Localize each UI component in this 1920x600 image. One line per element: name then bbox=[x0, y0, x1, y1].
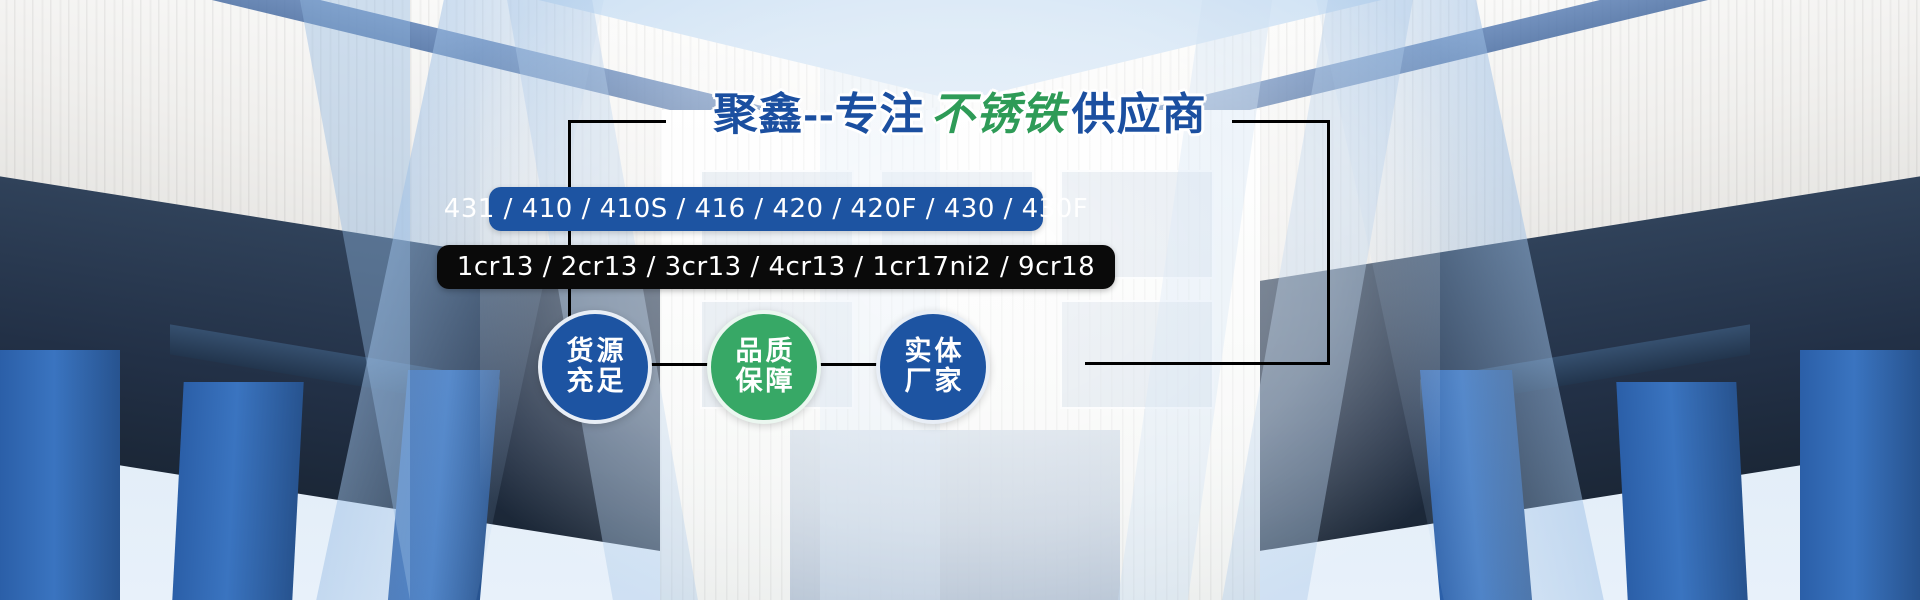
steel-grades-blue-pill: 431 / 410 / 410S / 416 / 420 / 420F / 43… bbox=[489, 187, 1043, 231]
feature-circle-ample-supply: 货源 充足 bbox=[538, 310, 652, 424]
title-focus: 专注 bbox=[835, 89, 925, 140]
building-pillar bbox=[1616, 382, 1747, 600]
building-pillar bbox=[0, 350, 120, 600]
feature-line-2: 厂家 bbox=[902, 367, 965, 397]
building-pillar bbox=[1800, 350, 1920, 600]
facade-window bbox=[1060, 300, 1214, 409]
title-highlight: 不锈铁 bbox=[925, 89, 1072, 140]
building-pillar bbox=[172, 382, 303, 600]
title-dash: -- bbox=[803, 90, 834, 139]
promo-banner: 聚鑫不锈 聚鑫不锈 聚鑫--专注不锈铁供应商 431 / 410 / 410 bbox=[0, 0, 1920, 600]
steel-grades-black-pill: 1cr13 / 2cr13 / 3cr13 / 4cr13 / 1cr17ni2… bbox=[437, 245, 1115, 289]
feature-circle-real-factory: 实体 厂家 bbox=[876, 310, 990, 424]
feature-line-2: 充足 bbox=[564, 367, 627, 397]
feature-line-2: 保障 bbox=[733, 367, 796, 397]
building-center-door bbox=[790, 430, 1120, 600]
feature-line-1: 实体 bbox=[902, 337, 965, 367]
feature-line-1: 货源 bbox=[564, 337, 627, 367]
title-supplier: 供应商 bbox=[1072, 89, 1207, 140]
feature-circle-quality-guarantee: 品质 保障 bbox=[707, 310, 821, 424]
feature-line-1: 品质 bbox=[733, 337, 796, 367]
title-brand: 聚鑫 bbox=[713, 89, 803, 140]
banner-title: 聚鑫--专注不锈铁供应商 bbox=[0, 78, 1920, 142]
